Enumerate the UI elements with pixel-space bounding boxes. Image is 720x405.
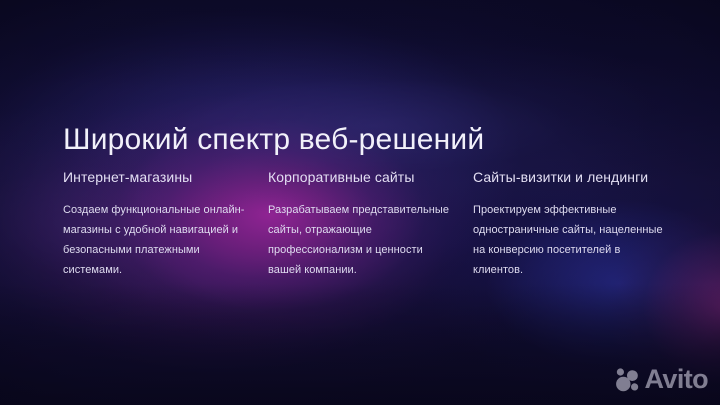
avito-watermark: Avito bbox=[614, 366, 709, 393]
service-column-corporate-sites: Корпоративные сайты Разрабатываем предст… bbox=[268, 168, 458, 280]
service-column-title: Сайты-визитки и лендинги bbox=[473, 168, 663, 186]
avito-dots-icon bbox=[614, 367, 640, 393]
service-column-online-stores: Интернет-магазины Создаем функциональные… bbox=[63, 168, 253, 280]
service-column-title: Корпоративные сайты bbox=[268, 168, 458, 186]
service-column-body: Создаем функциональные онлайн-магазины с… bbox=[63, 200, 253, 280]
page-title: Широкий спектр веб-решений bbox=[63, 123, 484, 157]
slide-content: Широкий спектр веб-решений Интернет-мага… bbox=[0, 0, 720, 405]
service-column-title: Интернет-магазины bbox=[63, 168, 253, 186]
avito-wordmark: Avito bbox=[645, 366, 709, 393]
promo-slide: Широкий спектр веб-решений Интернет-мага… bbox=[0, 0, 720, 405]
service-column-body: Проектируем эффективные одностраничные с… bbox=[473, 200, 663, 280]
service-columns: Интернет-магазины Создаем функциональные… bbox=[63, 168, 663, 280]
service-column-body: Разрабатываем представительные сайты, от… bbox=[268, 200, 458, 280]
service-column-landing-pages: Сайты-визитки и лендинги Проектируем эфф… bbox=[473, 168, 663, 280]
